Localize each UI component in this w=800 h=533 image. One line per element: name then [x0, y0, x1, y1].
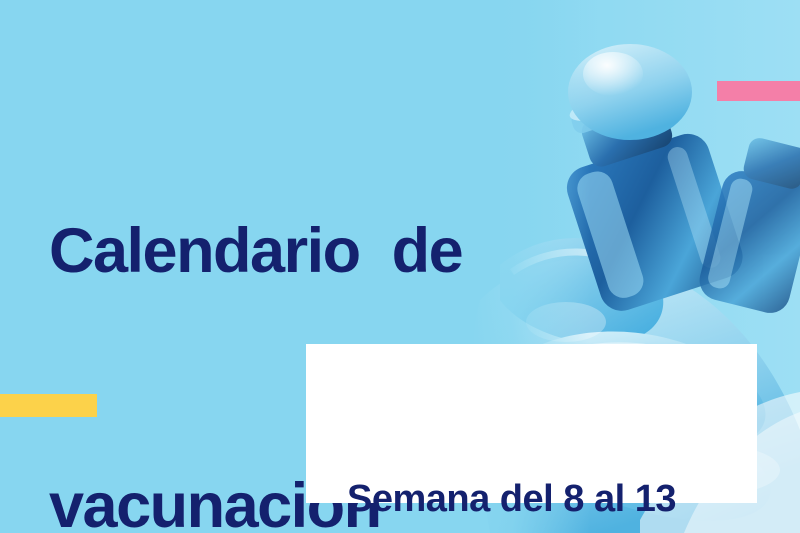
date-card: Semana del 8 al 13 de marzo 2021 — [306, 344, 757, 503]
page-title-line-1: Calendario de — [49, 209, 709, 294]
date-range-text: Semana del 8 al 13 de marzo 2021 — [347, 374, 742, 533]
vaccination-calendar-poster: Calendario de vacunación COVID-19 Semana… — [0, 0, 800, 533]
date-range-line-1: Semana del 8 al 13 — [347, 474, 742, 524]
pink-accent-bar — [717, 81, 800, 101]
